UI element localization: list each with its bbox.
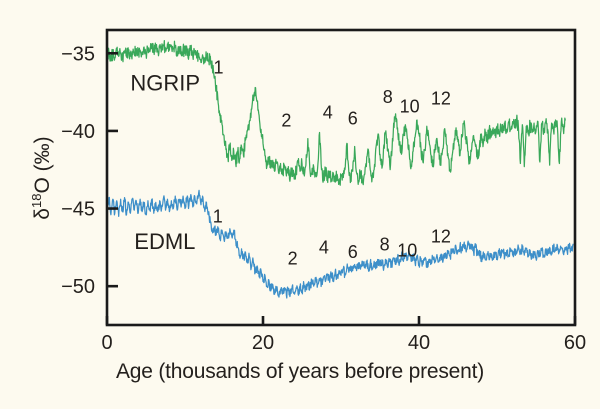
x-tick-label-0: 0: [101, 332, 112, 354]
y-axis-units: (‰): [31, 136, 54, 171]
y-axis-delta: δ: [31, 208, 54, 220]
y-tick-label--35: −35: [61, 43, 95, 65]
x-tick-label-60: 60: [564, 332, 586, 354]
edml-event-label-8: 8: [380, 234, 390, 254]
x-tick-label-20: 20: [252, 332, 274, 354]
x-axis-title: Age (thousands of years before present): [0, 360, 600, 384]
ngrip-event-label-4: 4: [323, 103, 333, 123]
ngrip-event-label-2: 2: [281, 110, 291, 130]
delta-o18-line-chart: 0204060−35−40−45−50NGRIPEDML124681012124…: [0, 0, 600, 409]
plot-layer: 0204060−35−40−45−50NGRIPEDML124681012124…: [61, 30, 586, 354]
ngrip-event-label-12: 12: [431, 89, 451, 109]
ngrip-event-label-1: 1: [214, 57, 224, 77]
y-tick-label--50: −50: [61, 276, 95, 298]
y-tick-label--45: −45: [61, 199, 95, 221]
series-name-label-edml: EDML: [134, 229, 195, 254]
y-axis-title: δ18O (‰): [29, 58, 55, 298]
y-axis-mass-number: 18: [29, 194, 44, 208]
x-tick-label-40: 40: [408, 332, 430, 354]
edml-event-label-6: 6: [348, 242, 358, 262]
edml-event-label-10: 10: [397, 241, 417, 261]
y-axis-element: O: [31, 177, 54, 193]
ngrip-event-label-8: 8: [383, 87, 393, 107]
y-tick-label--40: −40: [61, 121, 95, 143]
edml-event-label-2: 2: [288, 248, 298, 268]
edml-event-label-4: 4: [319, 238, 329, 258]
edml-event-label-12: 12: [431, 227, 451, 247]
edml-event-label-1: 1: [213, 207, 223, 227]
ngrip-event-label-10: 10: [400, 96, 420, 116]
series-name-label-ngrip: NGRIP: [130, 71, 200, 96]
climate-chart-figure: 0204060−35−40−45−50NGRIPEDML124681012124…: [0, 0, 600, 409]
series-line-ngrip: [107, 41, 565, 186]
ngrip-event-label-6: 6: [348, 109, 358, 129]
